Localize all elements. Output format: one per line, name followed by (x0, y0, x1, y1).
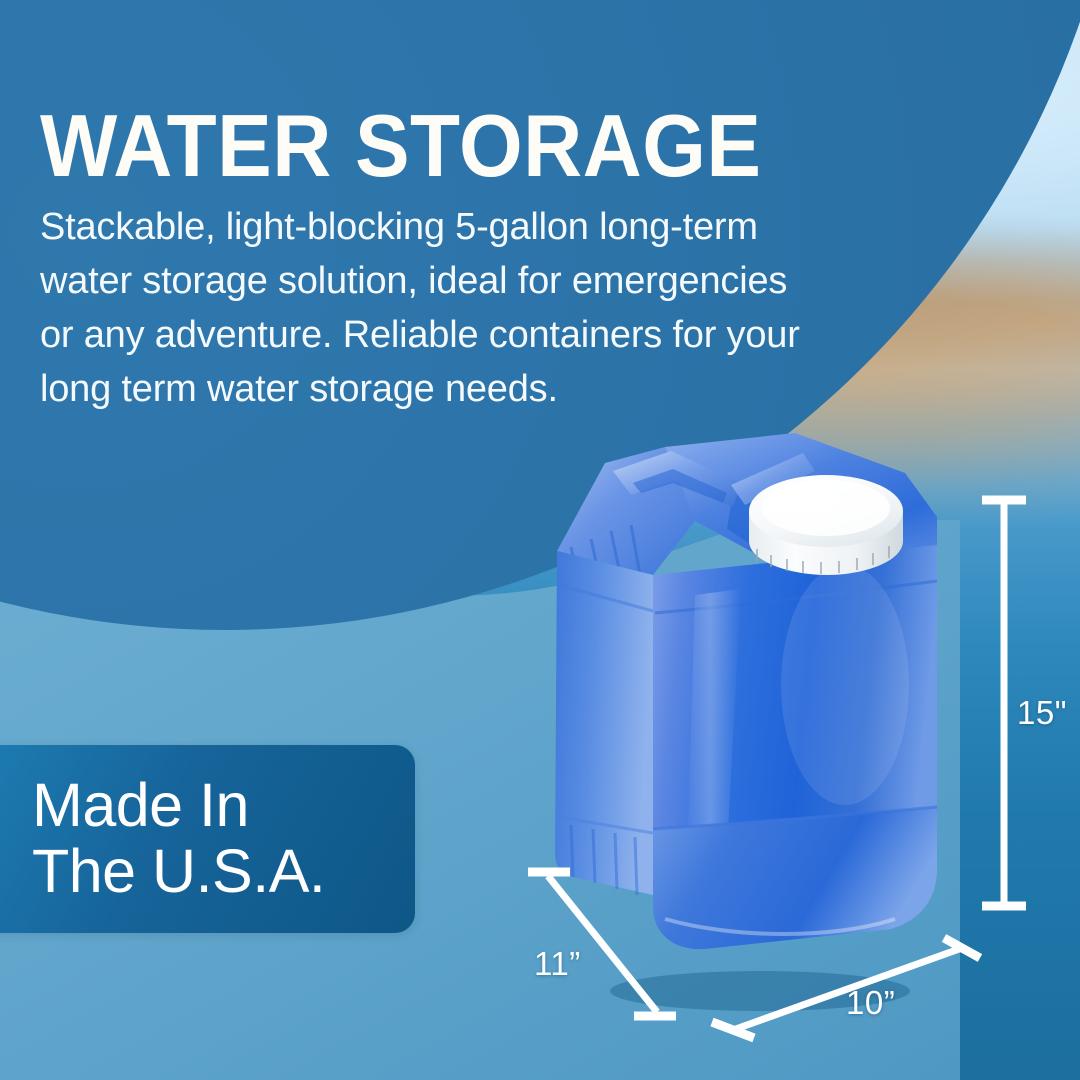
made-in-usa-label: Made In The U.S.A. (32, 773, 325, 905)
product-description: Stackable, light-blocking 5-gallon long-… (40, 201, 830, 417)
jug-screw-cap (749, 475, 903, 575)
product-infographic-poster: WATER STORAGE Stackable, light-blocking … (0, 0, 1080, 1080)
water-container-product-image (545, 425, 965, 1015)
jug-body-left-face (555, 551, 653, 895)
page-title: WATER STORAGE (40, 103, 877, 189)
made-in-usa-badge: Made In The U.S.A. (0, 745, 415, 933)
